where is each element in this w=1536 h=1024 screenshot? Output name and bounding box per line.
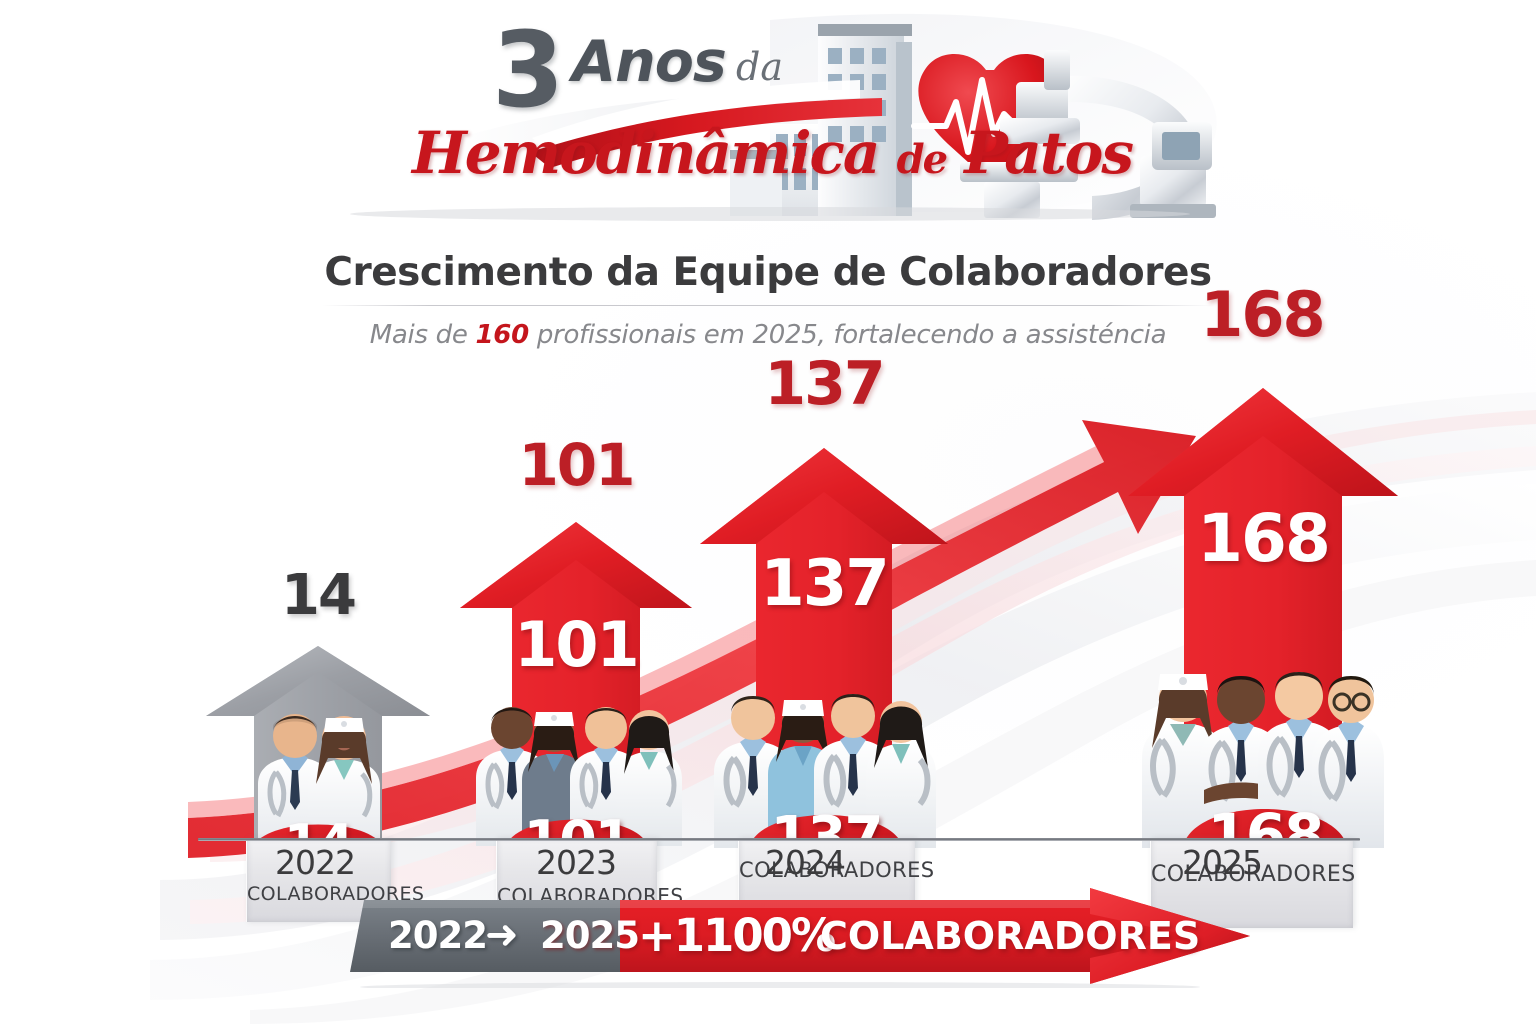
top-value-label-2023: 101 <box>446 436 706 494</box>
arrow-right-icon: ➜ <box>485 912 519 960</box>
top-value-label-2022: 14 <box>188 568 448 624</box>
chart-baseline-axis <box>198 838 1360 841</box>
banner-from-year: 2022 <box>388 912 487 960</box>
chart-bar-2022[interactable]: 14 COLABORADORES 14 <box>206 646 430 838</box>
x-axis-label-2022: 2022 <box>205 843 425 882</box>
banner-percent: +1100% <box>638 912 834 960</box>
bar-chart: 14 COLABORADORES 14 <box>0 0 1536 1024</box>
top-value-label-2025: 168 <box>1132 284 1392 346</box>
house-value-label-2025: 168 <box>1128 506 1398 572</box>
x-axis-label-2023: 2023 <box>466 843 686 882</box>
top-value-label-2024: 137 <box>694 354 954 414</box>
chart-bar-2025[interactable]: 168 <box>1128 388 1398 838</box>
banner-to-year: 2025 <box>540 912 639 960</box>
summary-banner[interactable]: 2022 ➜ 2025 +1100% COLABORADORES <box>350 888 1250 988</box>
banner-word: COLABORADORES <box>820 912 1200 960</box>
x-axis-label-2025: 2025 <box>1112 843 1332 882</box>
infographic-canvas: 3 Anos da Hemodinâmica de Patos Crescime… <box>0 0 1536 1024</box>
chart-bar-2023[interactable]: 101 <box>460 522 692 838</box>
x-axis-label-2024: 2024 <box>695 843 915 882</box>
house-value-label-2024: 137 <box>700 552 948 616</box>
chart-bar-2024[interactable]: 137 <box>700 448 948 838</box>
